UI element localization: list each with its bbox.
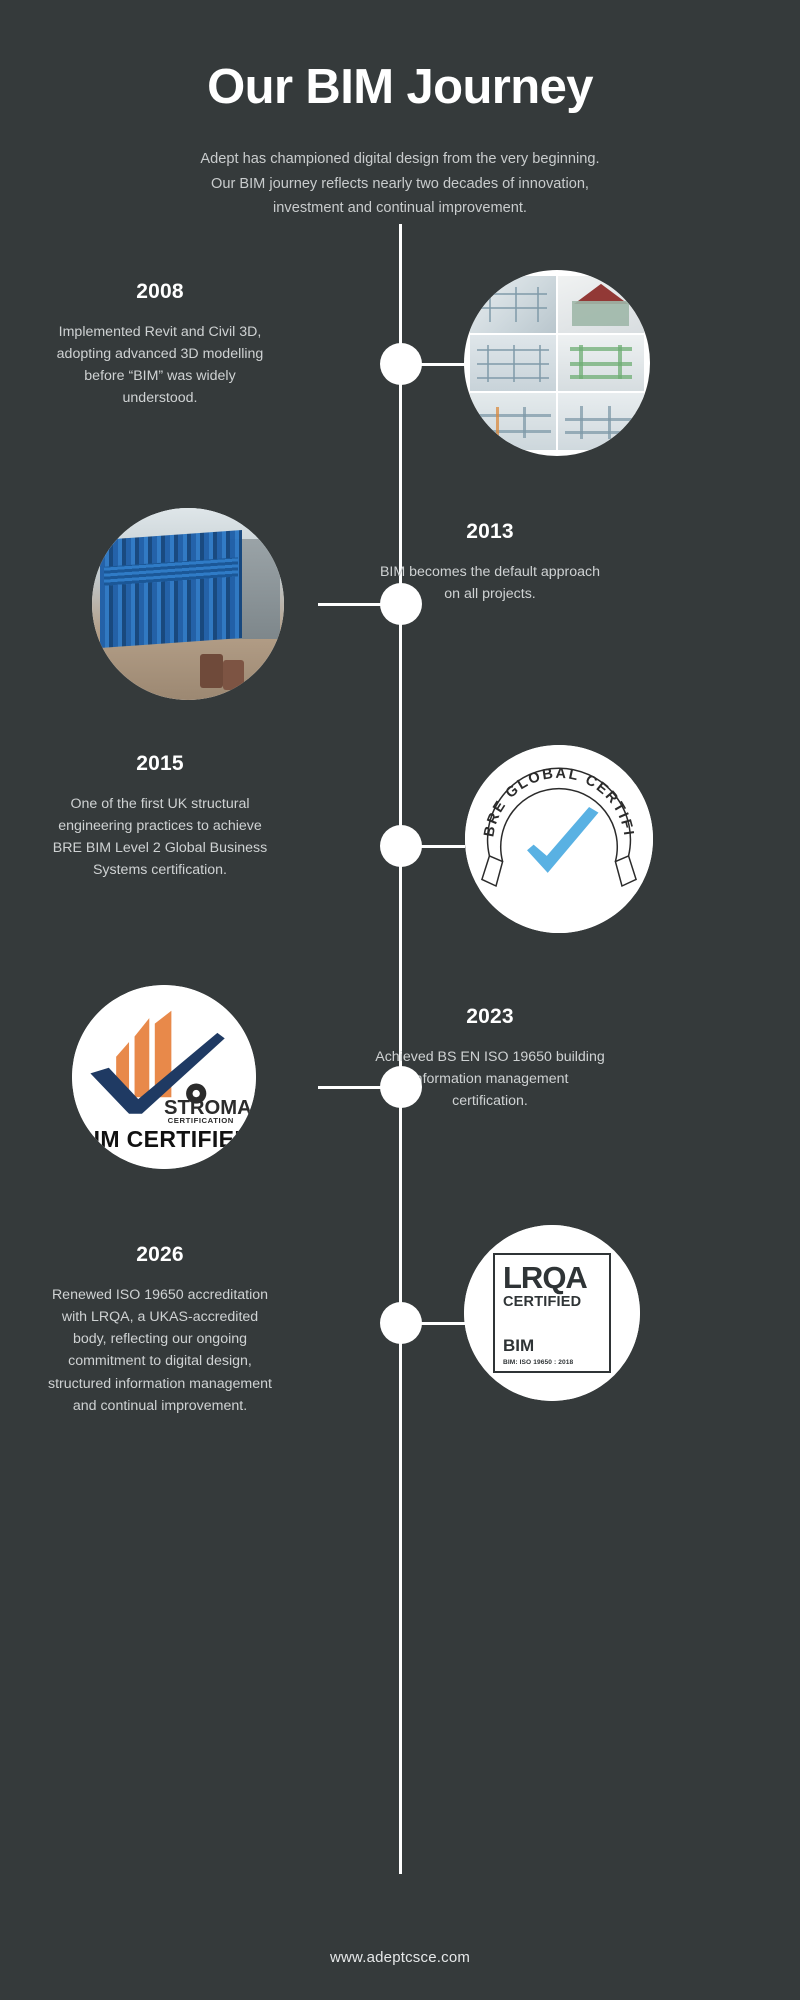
timeline-entry-2008: 2008 Implemented Revit and Civil 3D, ado…	[0, 280, 800, 510]
subtitle-line-1: Adept has championed digital design from…	[0, 147, 800, 171]
entry-node	[380, 1066, 422, 1108]
lrqa-scheme-label: BIM	[503, 1336, 601, 1356]
timeline-entry-2026: 2026 Renewed ISO 19650 accreditation wit…	[0, 1243, 800, 1543]
stroma-brand-sub: CERTIFICATION	[168, 1116, 234, 1125]
media-lrqa-badge-2026: LRQA CERTIFIED BIM BIM: ISO 19650 : 2018	[464, 1225, 640, 1401]
entry-year: 2026	[45, 1243, 275, 1267]
entry-text-2008: 2008 Implemented Revit and Civil 3D, ado…	[45, 280, 275, 410]
timeline-entry-2023: 2023 Achieved BS EN ISO 19650 building i…	[0, 1005, 800, 1245]
entry-body: One of the first UK structural engineeri…	[45, 793, 275, 882]
entry-body: Implemented Revit and Civil 3D, adopting…	[45, 321, 275, 410]
entry-node	[380, 583, 422, 625]
entry-year: 2013	[375, 520, 605, 544]
lrqa-certified-label: CERTIFIED	[503, 1294, 601, 1310]
bre-certification-icon: BRE GLOBAL CERTIFICATION	[465, 745, 653, 933]
media-stroma-badge-2023: STROMA CERTIFICATION BIM CERTIFIED	[72, 985, 256, 1169]
timeline-entry-2013: 2013 BIM becomes the default approach on…	[0, 520, 800, 740]
media-bre-badge-2015: BRE GLOBAL CERTIFICATION	[465, 745, 653, 933]
infographic-page: Our BIM Journey Adept has championed dig…	[0, 0, 800, 2000]
entry-node	[380, 1302, 422, 1344]
entry-connector	[318, 1086, 382, 1089]
header: Our BIM Journey Adept has championed dig…	[0, 0, 800, 220]
entry-year: 2015	[45, 752, 275, 776]
lrqa-wordmark: LRQA	[503, 1262, 601, 1293]
entry-text-2015: 2015 One of the first UK structural engi…	[45, 752, 275, 882]
collage-cell	[558, 276, 644, 333]
collage-cell	[470, 335, 556, 392]
subtitle-line-3: investment and continual improvement.	[0, 196, 800, 220]
collage-cell	[470, 393, 556, 450]
bre-arc-text: BRE GLOBAL CERTIFICATION	[465, 745, 636, 838]
collage-cell	[558, 335, 644, 392]
media-steel-frame-2013	[92, 508, 284, 700]
lrqa-certificate-card: LRQA CERTIFIED BIM BIM: ISO 19650 : 2018	[493, 1253, 611, 1373]
entry-year: 2008	[45, 280, 275, 304]
timeline-entry-2015: 2015 One of the first UK structural engi…	[0, 752, 800, 1002]
collage-cell	[470, 276, 556, 333]
stroma-bim-certified-icon: STROMA CERTIFICATION BIM CERTIFIED	[72, 985, 256, 1169]
entry-node	[380, 825, 422, 867]
subtitle-line-2: Our BIM journey reflects nearly two deca…	[0, 172, 800, 196]
media-collage-2008	[464, 270, 650, 456]
entry-connector	[318, 603, 382, 606]
entry-year: 2023	[375, 1005, 605, 1029]
collage-cell	[558, 393, 644, 450]
lrqa-standard-label: BIM: ISO 19650 : 2018	[503, 1359, 601, 1366]
page-subtitle: Adept has championed digital design from…	[0, 147, 800, 220]
footer-website[interactable]: www.adeptcsce.com	[0, 1949, 800, 1966]
entry-text-2026: 2026 Renewed ISO 19650 accreditation wit…	[45, 1243, 275, 1417]
entry-node	[380, 343, 422, 385]
entry-body: Renewed ISO 19650 accreditation with LRQ…	[45, 1284, 275, 1417]
stroma-caption: BIM CERTIFIED	[77, 1126, 252, 1152]
svg-text:BRE GLOBAL CERTIFICATION: BRE GLOBAL CERTIFICATION	[465, 745, 636, 838]
page-title: Our BIM Journey	[0, 62, 800, 113]
